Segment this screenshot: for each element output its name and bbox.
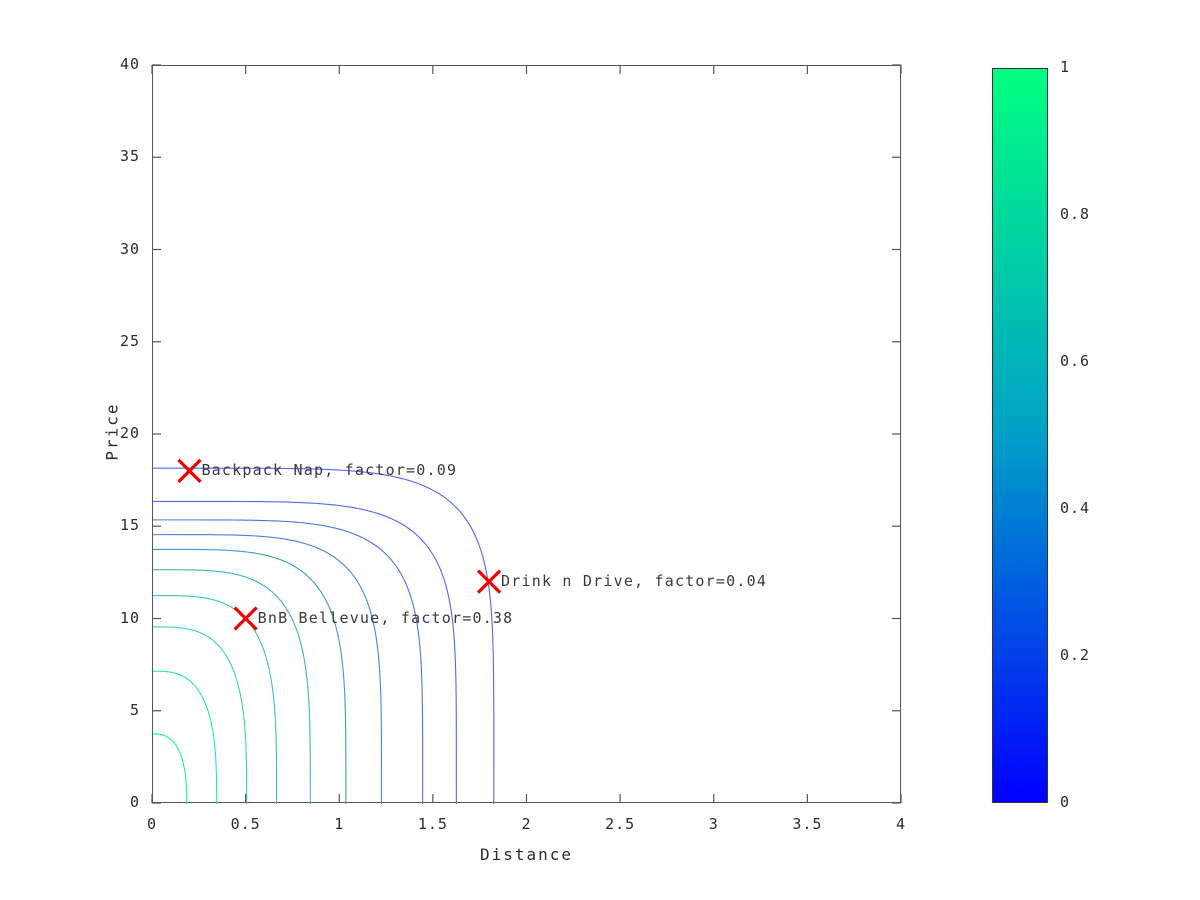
contour-line — [153, 501, 456, 804]
x-axis-title: Distance — [427, 845, 627, 864]
x-tick-label: 2.5 — [580, 815, 660, 833]
y-tick-label: 15 — [90, 516, 140, 534]
colorbar-tick-label: 0.8 — [1060, 205, 1090, 223]
x-tick-label: 3 — [674, 815, 754, 833]
colorbar-tick-label: 0.4 — [1060, 499, 1090, 517]
contour-line — [153, 549, 346, 804]
y-tick-label: 10 — [90, 609, 140, 627]
plot-area — [152, 65, 901, 803]
x-tick-label: 2 — [487, 815, 567, 833]
y-tick-label: 5 — [90, 701, 140, 719]
y-tick-label: 35 — [90, 147, 140, 165]
x-tick-label: 0 — [112, 815, 192, 833]
contour-line — [153, 671, 217, 804]
contour-line — [153, 570, 310, 804]
x-tick-label: 4 — [861, 815, 941, 833]
x-tick-label: 1 — [299, 815, 379, 833]
colorbar-tick-label: 1 — [1060, 58, 1070, 76]
contour-line — [153, 734, 187, 804]
y-tick-label: 0 — [90, 793, 140, 811]
contour-line — [153, 468, 494, 804]
x-tick-label: 1.5 — [393, 815, 473, 833]
contour-line — [153, 627, 247, 804]
x-tick-label: 0.5 — [206, 815, 286, 833]
chart-canvas: 0510152025303540 00.511.522.533.54 Price… — [0, 0, 1200, 900]
colorbar — [992, 68, 1048, 803]
x-tick-label: 3.5 — [767, 815, 847, 833]
y-axis-title: Price — [103, 372, 122, 492]
contour-line — [153, 535, 381, 804]
contour-lines-svg — [153, 66, 902, 804]
colorbar-tick-label: 0 — [1060, 793, 1070, 811]
y-tick-label: 30 — [90, 240, 140, 258]
marker-label: BnB Bellevue, factor=0.38 — [258, 609, 514, 627]
y-tick-label: 40 — [90, 55, 140, 73]
colorbar-tick-label: 0.2 — [1060, 646, 1090, 664]
colorbar-tick-label: 0.6 — [1060, 352, 1090, 370]
marker-label: Backpack Nap, factor=0.09 — [201, 461, 457, 479]
marker-label: Drink n Drive, factor=0.04 — [501, 572, 767, 590]
y-tick-label: 25 — [90, 332, 140, 350]
